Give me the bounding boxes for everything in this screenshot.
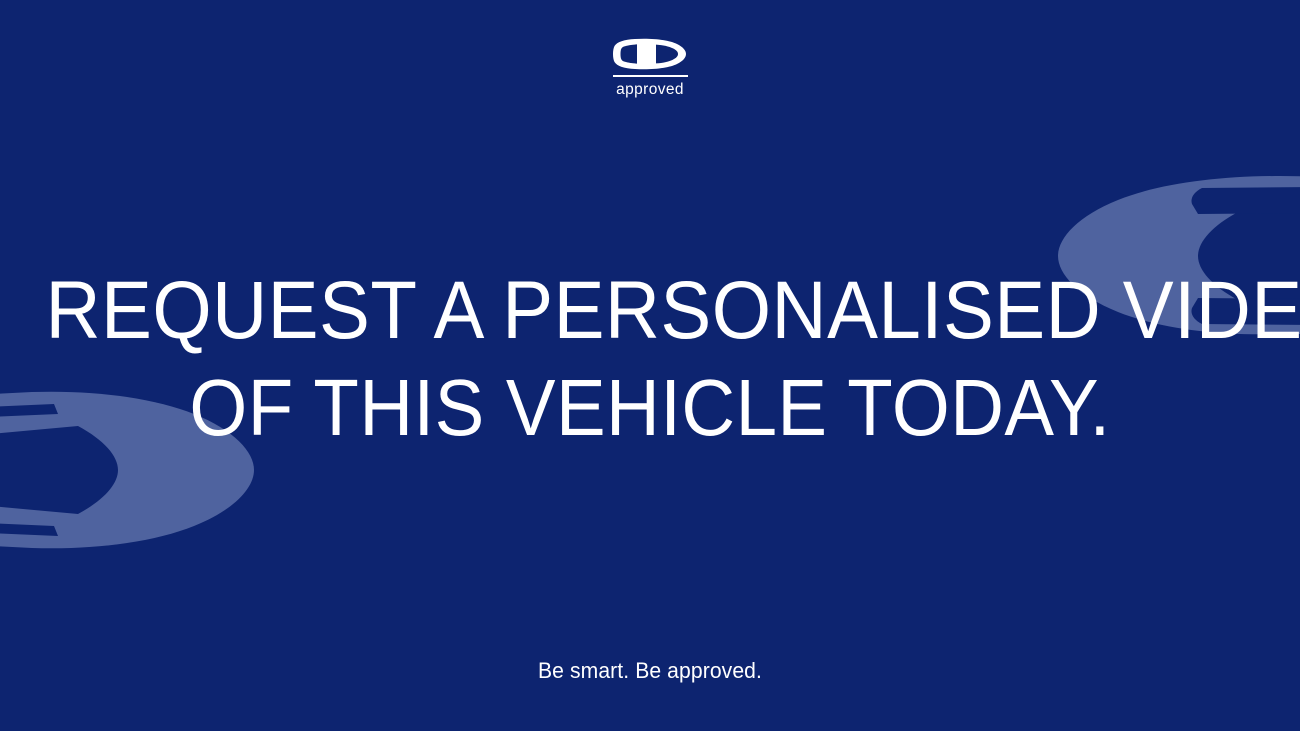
page-title: REQUEST A PERSONALISED VIDEO OF THIS VEH… xyxy=(0,268,1300,450)
promo-banner: approved REQUEST A PERSONALISED VIDEO OF… xyxy=(0,0,1300,731)
tagline: Be smart. Be approved. xyxy=(26,657,1274,685)
headline-line-2: OF THIS VEHICLE TODAY. xyxy=(46,366,1255,450)
brand-wordmark: approved xyxy=(616,82,684,98)
brand-logo: approved xyxy=(0,38,1300,98)
brand-divider-rule xyxy=(613,75,688,77)
car-top-view-icon xyxy=(613,38,687,70)
headline-line-1: REQUEST A PERSONALISED VIDEO xyxy=(46,268,1255,354)
